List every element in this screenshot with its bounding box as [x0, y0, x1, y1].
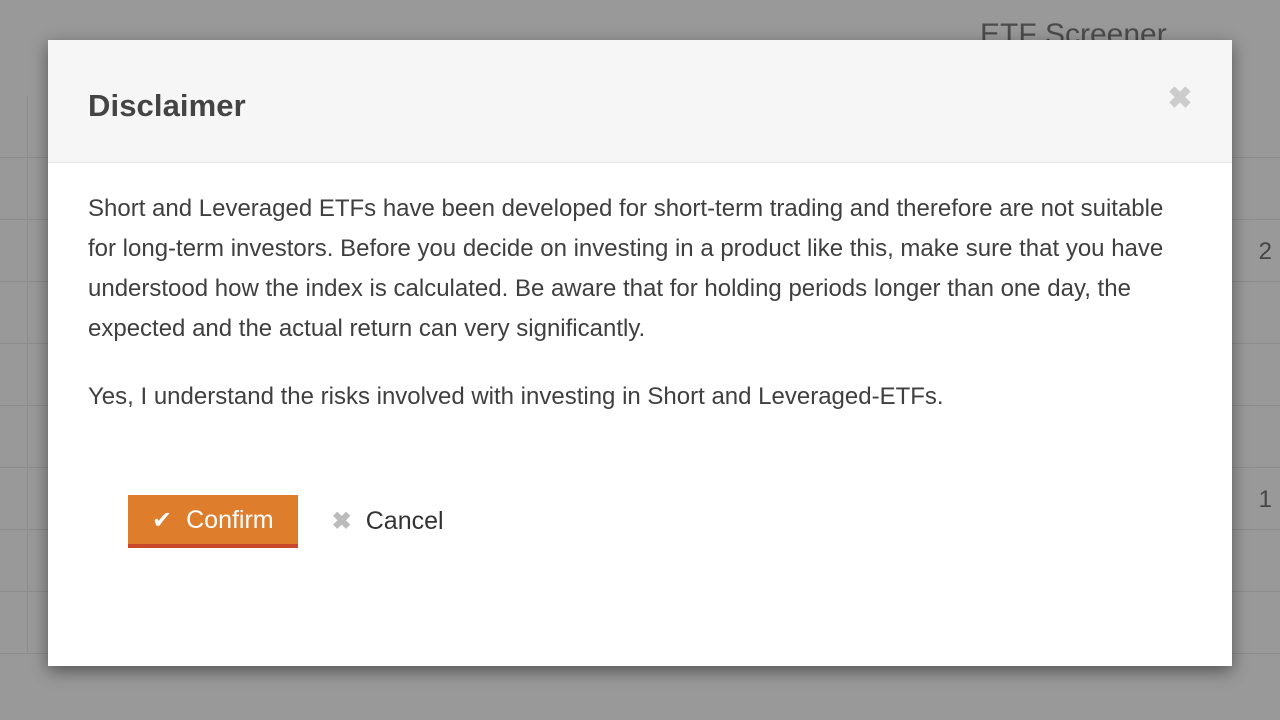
confirm-button[interactable]: ✔ Confirm: [128, 495, 298, 548]
close-icon[interactable]: ✖: [1162, 81, 1198, 117]
disclaimer-modal: Disclaimer ✖ Short and Leveraged ETFs ha…: [48, 40, 1232, 666]
modal-header: Disclaimer ✖: [48, 40, 1232, 163]
disclaimer-text: Short and Leveraged ETFs have been devel…: [88, 189, 1192, 349]
cross-icon: ✖: [332, 510, 352, 534]
risk-acknowledgement-text: Yes, I understand the risks involved wit…: [88, 377, 1192, 417]
cancel-button-label: Cancel: [366, 509, 444, 534]
check-icon: ✔: [152, 509, 172, 533]
modal-title: Disclaimer: [88, 88, 246, 124]
app-root: ETF Screener 2: [0, 0, 1280, 720]
modal-body: Short and Leveraged ETFs have been devel…: [48, 163, 1232, 666]
cancel-button[interactable]: ✖ Cancel: [328, 501, 448, 542]
modal-actions: ✔ Confirm ✖ Cancel: [88, 495, 1192, 548]
confirm-button-label: Confirm: [186, 508, 274, 533]
